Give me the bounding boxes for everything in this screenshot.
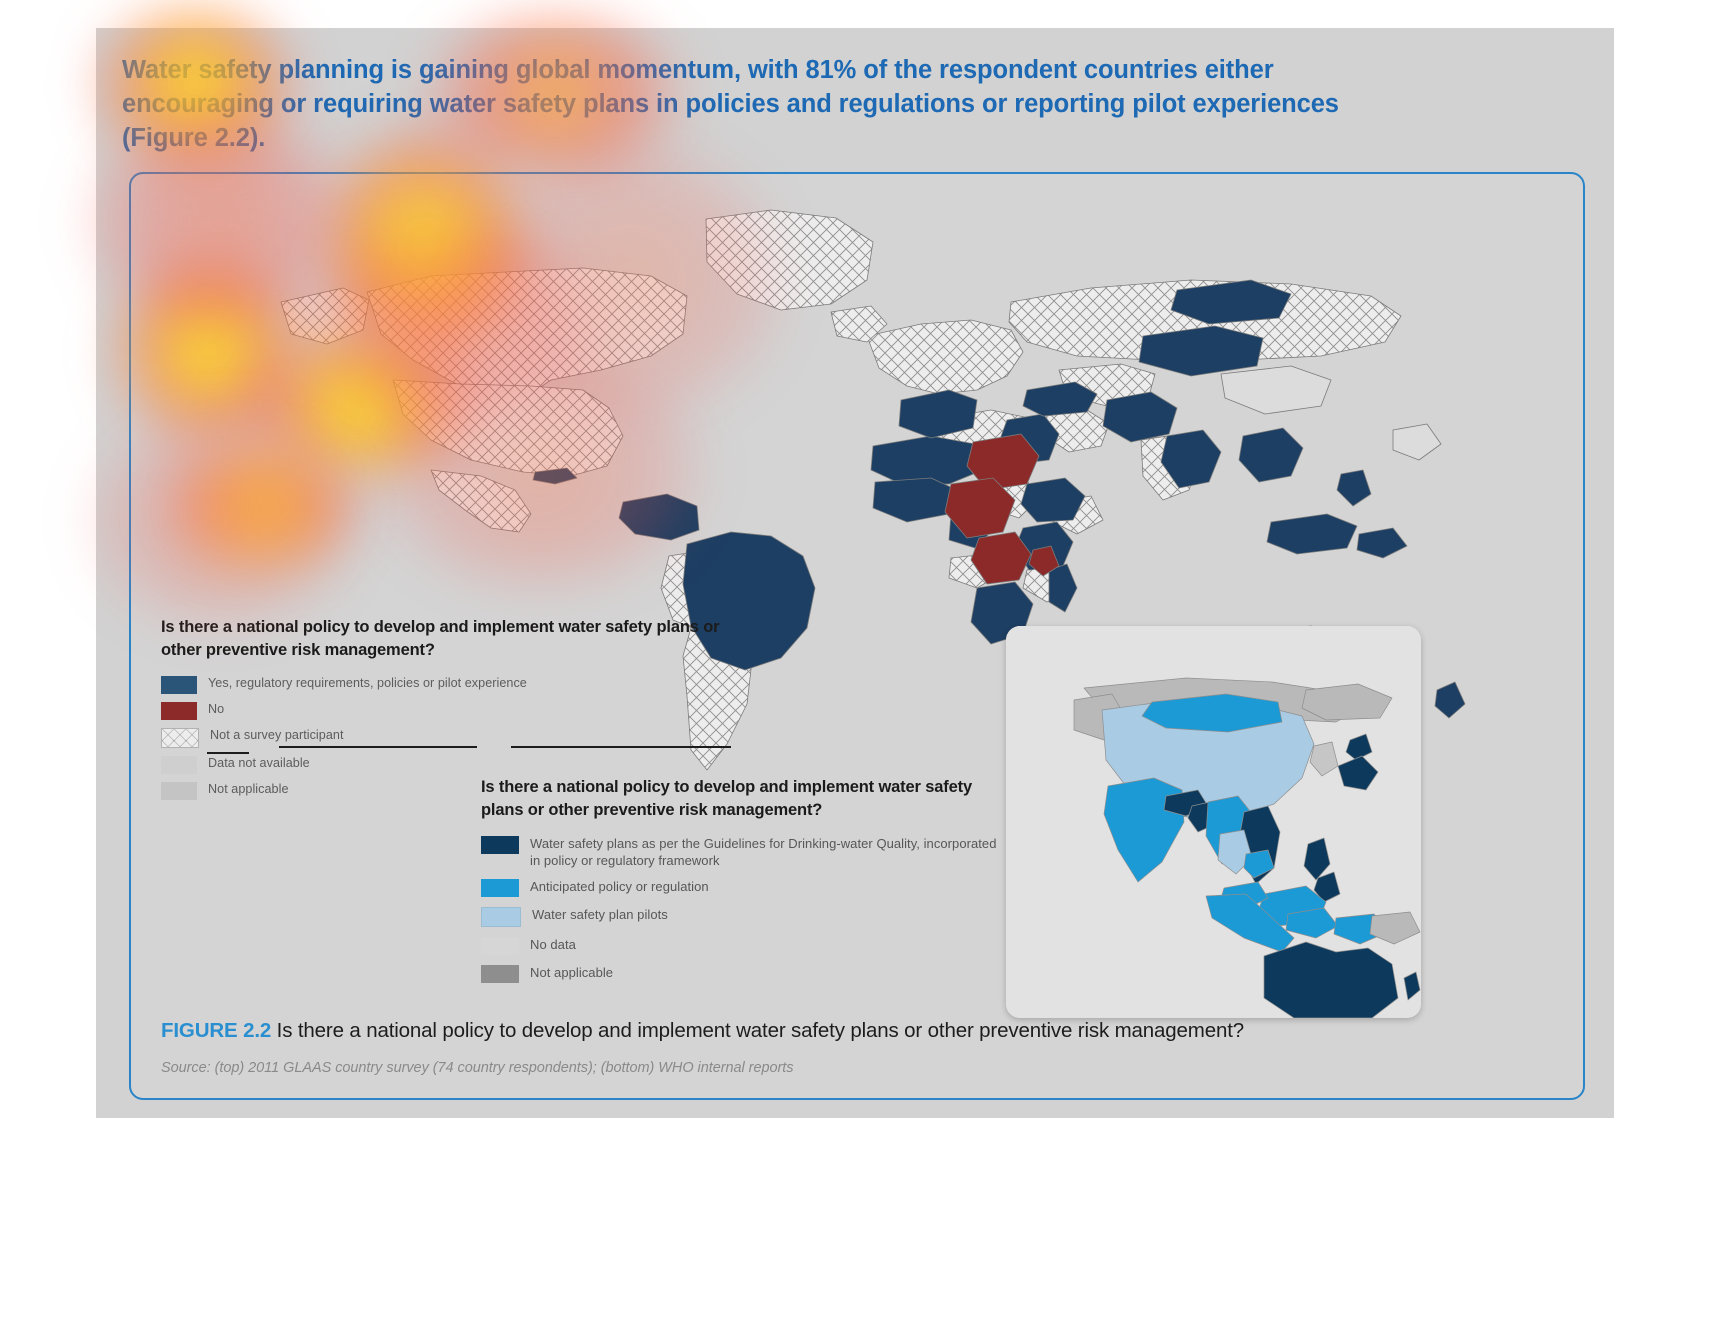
legend-label-not-survey-participant: Not a survey participant [210, 727, 344, 744]
legend-label-not-applicable-inset: Not applicable [530, 964, 613, 981]
legend-label-pilots: Water safety plan pilots [532, 906, 668, 923]
legend-inset-title: Is there a national policy to develop an… [481, 776, 1001, 822]
caption-figure-label: FIGURE 2.2 [161, 1019, 271, 1042]
legend-label-no-data: No data [530, 936, 576, 953]
swatch-not-survey-participant [161, 728, 199, 748]
legend-item: Yes, regulatory requirements, policies o… [161, 675, 721, 694]
legend-item: Not a survey participant [161, 727, 721, 748]
swatch-no-data [481, 937, 519, 955]
scan-artifact-rule [279, 746, 477, 748]
swatch-pilots [481, 907, 521, 927]
legend-label-anticipated: Anticipated policy or regulation [530, 878, 709, 895]
legend-label-yes: Yes, regulatory requirements, policies o… [208, 675, 527, 692]
legend-label-data-not-available: Data not available [208, 755, 310, 772]
legend-label-wsp-in-policy: Water safety plans as per the Guidelines… [530, 835, 1001, 870]
swatch-yes [161, 676, 197, 694]
page-headline: Water safety planning is gaining global … [122, 54, 1412, 156]
caption-figure-text: Is there a national policy to develop an… [271, 1019, 1244, 1042]
legend-inset-map: Is there a national policy to develop an… [481, 776, 1001, 992]
figure-caption: FIGURE 2.2 Is there a national policy to… [161, 1019, 1551, 1076]
document-page: Water safety planning is gaining global … [96, 28, 1614, 1118]
inset-map-card [1006, 626, 1421, 1018]
legend-item: Data not available [161, 755, 721, 774]
legend-item: Anticipated policy or regulation [481, 878, 1001, 897]
legend-item: No [161, 701, 721, 720]
caption-line: FIGURE 2.2 Is there a national policy to… [161, 1019, 1551, 1043]
legend-item: Not applicable [481, 964, 1001, 983]
legend-item: Water safety plan pilots [481, 906, 1001, 927]
legend-world-title: Is there a national policy to develop an… [161, 616, 721, 662]
scan-artifact-rule [511, 746, 731, 748]
figure-panel: Is there a national policy to develop an… [129, 172, 1585, 1100]
legend-label-no: No [208, 701, 224, 718]
legend-item: No data [481, 936, 1001, 955]
asia-pacific-inset-map [1006, 626, 1421, 1018]
legend-item: Water safety plans as per the Guidelines… [481, 835, 1001, 870]
swatch-data-not-available [161, 756, 197, 774]
swatch-no [161, 702, 197, 720]
swatch-not-applicable [161, 782, 197, 800]
caption-source: Source: (top) 2011 GLAAS country survey … [161, 1060, 1551, 1076]
swatch-wsp-in-policy [481, 836, 519, 854]
swatch-not-applicable-inset [481, 965, 519, 983]
legend-label-not-applicable: Not applicable [208, 781, 289, 798]
swatch-anticipated [481, 879, 519, 897]
scan-artifact-rule [207, 752, 249, 754]
